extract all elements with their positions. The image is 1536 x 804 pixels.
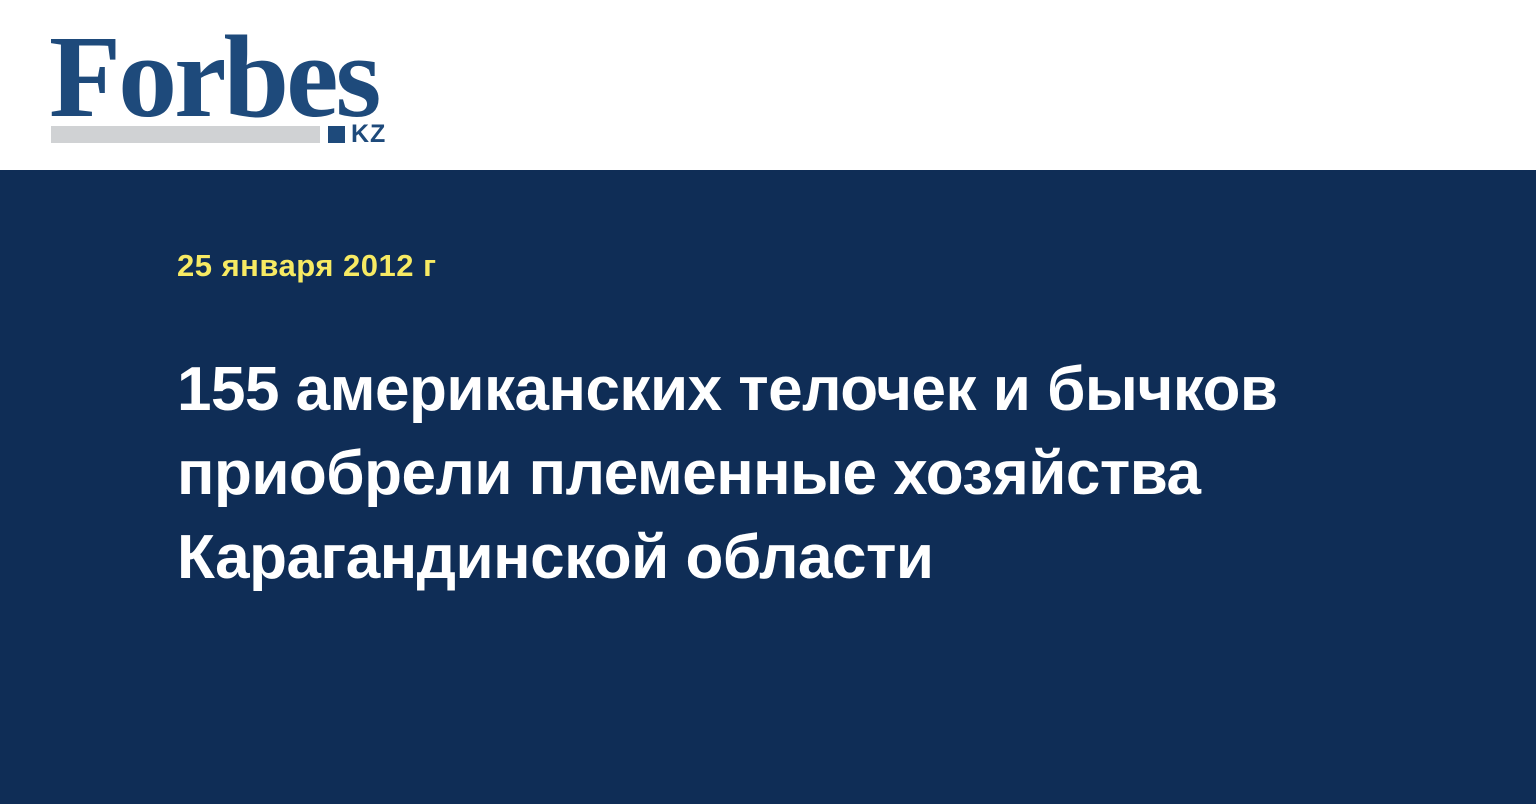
forbes-wordmark: Forbes [49, 18, 378, 136]
article-hero: 25 января 2012 г 155 американских телоче… [0, 170, 1536, 804]
logo-square-icon [328, 126, 345, 143]
article-publish-date: 25 января 2012 г [177, 249, 437, 283]
logo-rule [51, 126, 320, 143]
forbes-kz-logo[interactable]: Forbes KZ [51, 22, 421, 147]
site-header: Forbes KZ [0, 0, 1536, 170]
logo-kz-suffix: KZ [351, 122, 386, 147]
article-headline: 155 американских телочек и бычков приобр… [177, 348, 1282, 600]
article-hero-page: Forbes KZ 25 января 2012 г 155 американс… [0, 0, 1536, 804]
